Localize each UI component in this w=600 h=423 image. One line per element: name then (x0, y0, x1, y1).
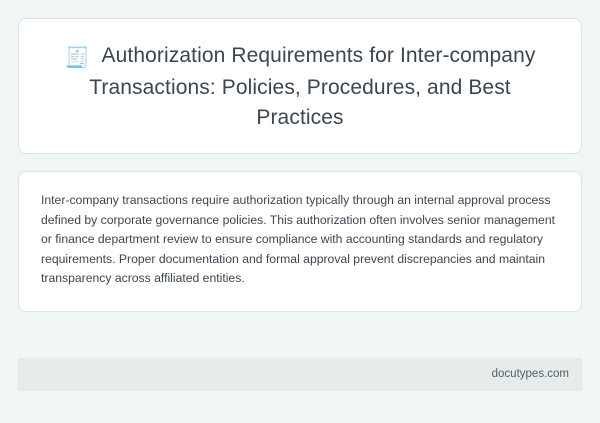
page-title: 🧾Authorization Requirements for Inter-co… (43, 41, 557, 133)
page-footer: docutypes.com (18, 358, 582, 391)
page-title-text: Authorization Requirements for Inter-com… (89, 44, 535, 129)
document-body-card: Inter-company transactions require autho… (18, 171, 582, 312)
document-header-card: 🧾Authorization Requirements for Inter-co… (18, 18, 582, 154)
footer-site-label: docutypes.com (492, 369, 569, 381)
body-paragraph: Inter-company transactions require autho… (41, 191, 559, 289)
document-page: 🧾Authorization Requirements for Inter-co… (0, 18, 600, 423)
receipt-icon: 🧾 (65, 47, 90, 69)
